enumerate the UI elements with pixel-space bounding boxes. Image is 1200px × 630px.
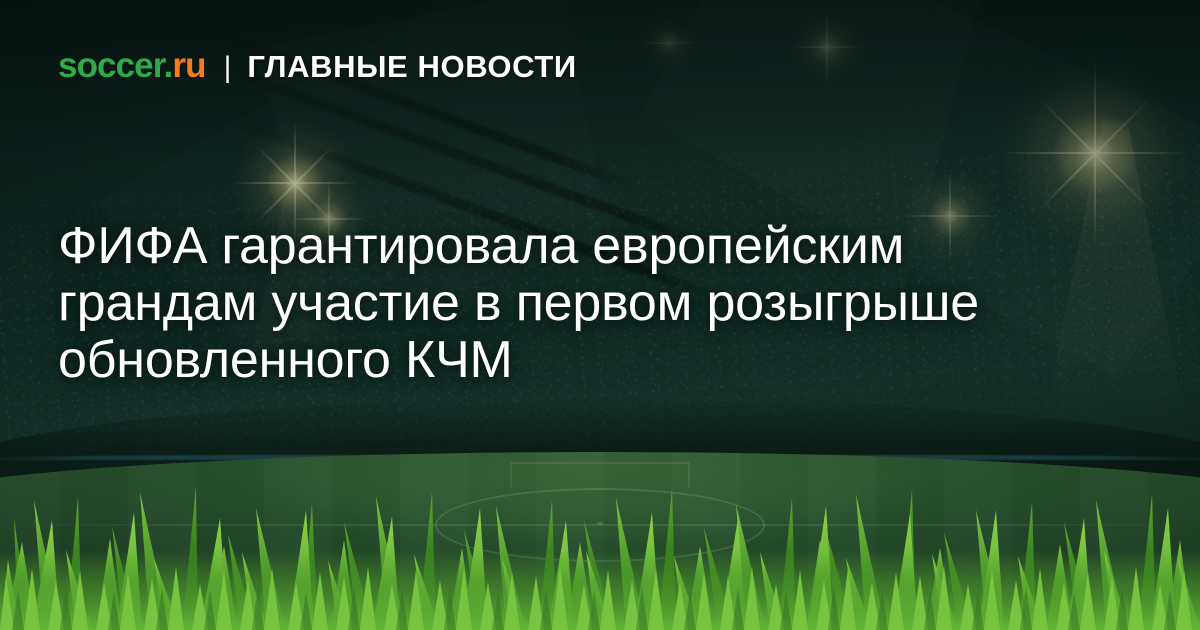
header-divider: | [224, 53, 232, 83]
section-kicker: ГЛАВНЫЕ НОВОСТИ [247, 51, 576, 82]
logo-word-soccer: soccer [58, 46, 164, 85]
logo-word-ru: ru [172, 46, 205, 85]
article-headline: ФИФА гарантировала европейским грандам у… [58, 218, 1078, 389]
card-header: soccer.ru | ГЛАВНЫЕ НОВОСТИ [58, 48, 577, 83]
site-logo[interactable]: soccer.ru [58, 48, 206, 83]
news-share-card: soccer.ru | ГЛАВНЫЕ НОВОСТИ ФИФА гаранти… [0, 0, 1200, 630]
